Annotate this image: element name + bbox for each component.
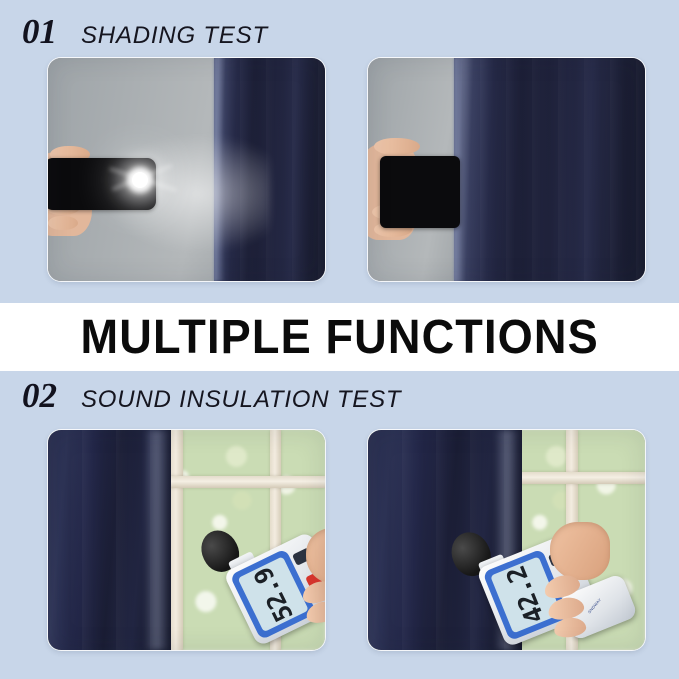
shading-test-photo-light-on [48,58,325,281]
window-mullion-horizontal [158,476,325,488]
section-01-header: 01 SHADING TEST [22,14,268,49]
section-02-title: SOUND INSULATION TEST [81,388,401,412]
sound-level-meter: 52.9 [194,522,324,638]
meter-brand-logo: SNDWAY [587,597,603,614]
infographic-page: 01 SHADING TEST [0,0,679,679]
sound-level-meter: 42.2 SNDWAY [446,518,626,644]
sound-test-photo-window-open: 52.9 [48,430,325,650]
banner-title: MULTIPLE FUNCTIONS [80,310,598,365]
curtain-sheen [144,430,170,650]
hand [550,522,610,580]
window-mullion-vertical [170,430,183,650]
banner: MULTIPLE FUNCTIONS [0,303,679,371]
meter-reading-value: 52.9 [248,563,299,626]
section-02-header: 02 SOUND INSULATION TEST [22,378,401,413]
finger-index [374,138,420,155]
shading-test-photo-light-blocked [368,58,645,281]
smartphone [380,156,460,228]
sound-test-photo-curtain-closed: 42.2 SNDWAY [368,430,645,650]
finger-ring [48,216,78,230]
window-mullion-horizontal [518,472,645,484]
section-01-number: 01 [22,14,57,49]
meter-lcd-screen: 52.9 [238,556,309,632]
blackout-curtain [454,58,645,281]
section-02-number: 02 [22,378,57,413]
section-01-title: SHADING TEST [81,24,268,48]
meter-reading-value: 42.2 [501,562,551,628]
